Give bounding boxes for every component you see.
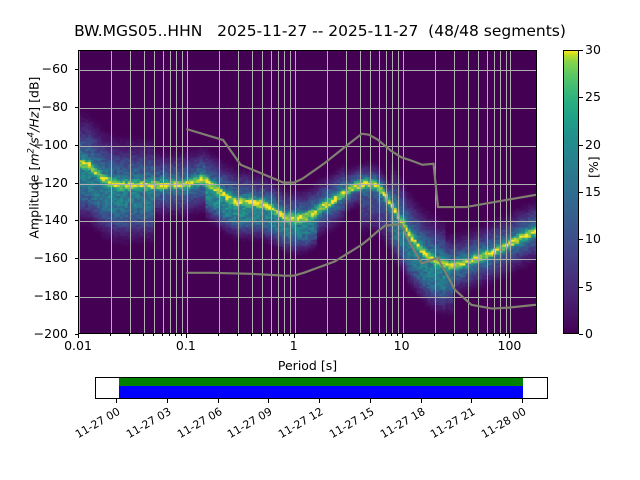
x-tick-minor [378,334,379,336]
x-tick-minor [251,334,252,336]
x-tick-minor [345,334,346,336]
colorbar-tick [579,192,583,193]
timeline-tick-label: 11-27 12 [271,405,326,444]
x-tick-minor [467,334,468,336]
x-tick-minor [110,334,111,336]
y-tick-label: −180 [26,288,68,303]
x-tick-minor [289,334,290,336]
x-tick-major [402,334,403,338]
y-tick-label: −80 [26,99,68,114]
x-tick-major [78,334,79,338]
ppsd-figure: BW.MGS05..HHN 2025-11-27 -- 2025-11-27 (… [0,0,640,480]
colorbar-tick [579,50,583,51]
colorbar-tick-label: 20 [585,137,601,152]
x-tick-minor [385,334,386,336]
y-tick [75,69,79,70]
y-tick [75,183,79,184]
x-tick-minor [218,334,219,336]
x-tick-minor [505,334,506,336]
y-tick-label: −60 [26,61,68,76]
colorbar-tick [579,97,583,98]
high-noise-model-line [186,129,536,207]
x-tick-minor [397,334,398,336]
y-tick-label: −160 [26,250,68,265]
x-tick-label: 1 [290,338,298,353]
timeline-segment-green [119,378,524,386]
timeline-tick-label: 11-27 15 [321,405,376,444]
y-tick [75,296,79,297]
colorbar-tick [579,287,583,288]
x-tick-minor [486,334,487,336]
colorbar-tick-label: 15 [585,184,601,199]
x-tick-minor [453,334,454,336]
colorbar-gradient [563,50,579,334]
x-tick-minor [169,334,170,336]
x-tick-minor [237,334,238,336]
colorbar-tick-label: 10 [585,231,601,246]
x-tick-minor [369,334,370,336]
x-tick-minor [277,334,278,336]
timeline-tick [471,399,472,403]
data-coverage-timeline[interactable] [95,377,548,399]
x-tick-minor [326,334,327,336]
x-tick-minor [391,334,392,336]
timeline-tick [522,399,523,403]
x-tick-minor [493,334,494,336]
timeline-tick [268,399,269,403]
timeline-tick-label: 11-27 09 [220,405,275,444]
y-axis-label: Amplitude [m2/s4/Hz] [dB] [26,48,41,268]
colorbar-tick-label: 5 [585,279,593,294]
x-tick-minor [434,334,435,336]
colorbar-tick [579,145,583,146]
y-tick-label: −140 [26,212,68,227]
colorbar-tick-label: 25 [585,89,601,104]
low-noise-model-line [186,224,536,309]
x-axis-label: Period [s] [78,358,537,373]
y-tick-label: −200 [26,326,68,341]
timeline-tick [370,399,371,403]
x-tick-minor [477,334,478,336]
x-tick-major [509,334,510,338]
y-tick [75,258,79,259]
y-tick [75,145,79,146]
x-tick-minor [359,334,360,336]
ppsd-plot-area[interactable] [78,50,537,334]
colorbar-tick-label: 30 [585,42,601,57]
x-tick-minor [181,334,182,336]
x-tick-minor [129,334,130,336]
x-tick-minor [162,334,163,336]
timeline-tick-label: 11-27 06 [169,405,224,444]
y-tick-label: −100 [26,137,68,152]
timeline-tick-label: 11-28 00 [474,405,529,444]
noise-model-curves [79,51,536,333]
timeline-tick-label: 11-27 21 [423,405,478,444]
timeline-tick-label: 11-27 18 [372,405,427,444]
x-tick-major [186,334,187,338]
y-tick [75,220,79,221]
timeline-tick [167,399,168,403]
colorbar-tick [579,334,583,335]
timeline-segment-blue [119,386,524,399]
timeline-tick [319,399,320,403]
y-tick-label: −120 [26,175,68,190]
x-tick-major [294,334,295,338]
x-tick-label: 10 [394,338,410,353]
y-tick [75,107,79,108]
x-tick-minor [143,334,144,336]
colorbar-label: [%] [586,156,601,178]
x-tick-label: 100 [498,338,522,353]
timeline-tick-label: 11-27 03 [118,405,173,444]
x-tick-minor [261,334,262,336]
figure-title: BW.MGS05..HHN 2025-11-27 -- 2025-11-27 (… [0,22,640,40]
x-tick-label: 0.1 [176,338,196,353]
x-tick-label: 0.01 [64,338,92,353]
timeline-tick [421,399,422,403]
timeline-tick [218,399,219,403]
timeline-tick-label: 11-27 00 [68,405,123,444]
x-tick-minor [175,334,176,336]
x-tick-minor [153,334,154,336]
x-tick-minor [499,334,500,336]
colorbar-tick [579,239,583,240]
x-tick-minor [270,334,271,336]
colorbar-tick-label: 0 [585,326,593,341]
timeline-tick [116,399,117,403]
x-tick-minor [283,334,284,336]
